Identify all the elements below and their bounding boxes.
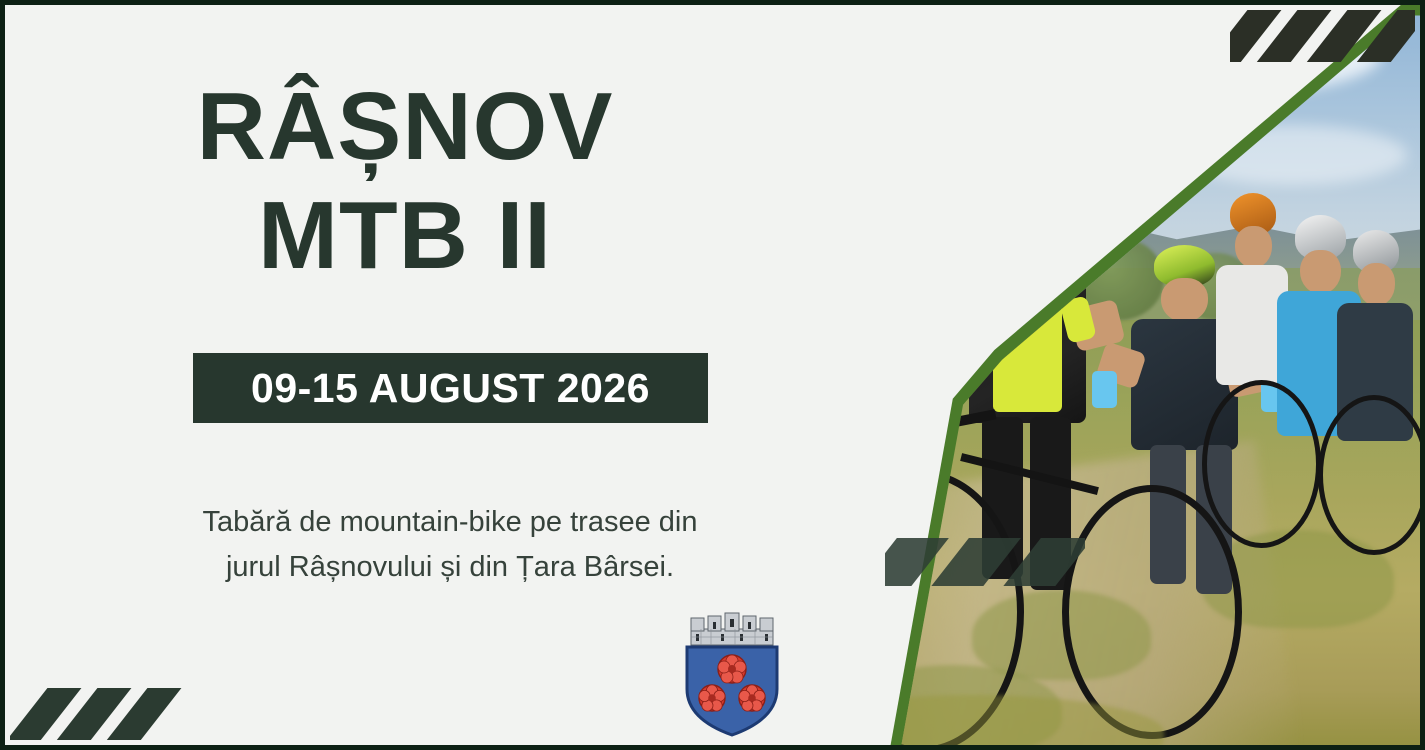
arm-sleeve-left [951, 284, 991, 334]
face [1161, 278, 1207, 322]
title-line-1: RÂȘNOV [5, 77, 805, 178]
face [999, 226, 1056, 280]
coat-of-arms-icon [677, 605, 787, 737]
bike-wheel-rear [1062, 485, 1242, 739]
shield [687, 647, 777, 735]
helmet-icon [990, 185, 1064, 234]
bike-wheel-bg-1 [1202, 380, 1321, 548]
mountain-bike-group-photo [780, 5, 1420, 750]
sunglasses-icon [999, 239, 1056, 253]
photo-clip [780, 5, 1420, 750]
grass-tuft [793, 440, 934, 515]
photo-panel [780, 5, 1420, 750]
face [1358, 263, 1395, 306]
decor-stripes-top-right [1230, 10, 1415, 62]
title-line-2: MTB II [5, 186, 805, 287]
cloud-icon [812, 35, 1106, 103]
description-line-2: jurul Râșnovului și din Țara Bârsei. [100, 545, 800, 590]
poster-canvas: RÂȘNOV MTB II 09-15 AUGUST 2026 Tabără d… [0, 0, 1425, 750]
rose-icon [718, 655, 746, 683]
mural-crown [691, 613, 773, 645]
bike-fork [874, 440, 901, 545]
description-line-1: Tabără de mountain-bike pe trasee din [100, 500, 800, 545]
glove-left [921, 320, 943, 352]
decor-stripes-photo-overlay [885, 538, 1085, 586]
description-block: Tabără de mountain-bike pe trasee din ju… [100, 500, 800, 590]
date-badge: 09-15 AUGUST 2026 [193, 353, 708, 423]
arm-left [923, 286, 982, 343]
cloud-icon [908, 110, 1164, 163]
glove-blue-left [1092, 371, 1117, 408]
decor-stripes-bottom-left [10, 688, 200, 740]
tree-icon [959, 178, 1061, 306]
coat-of-arms-svg [677, 605, 787, 737]
bike-wheel-bg-2 [1318, 395, 1420, 555]
rose-icon [739, 685, 765, 711]
rose-icon [699, 685, 725, 711]
date-badge-label: 09-15 AUGUST 2026 [251, 365, 650, 412]
page-title: RÂȘNOV MTB II [5, 77, 805, 287]
